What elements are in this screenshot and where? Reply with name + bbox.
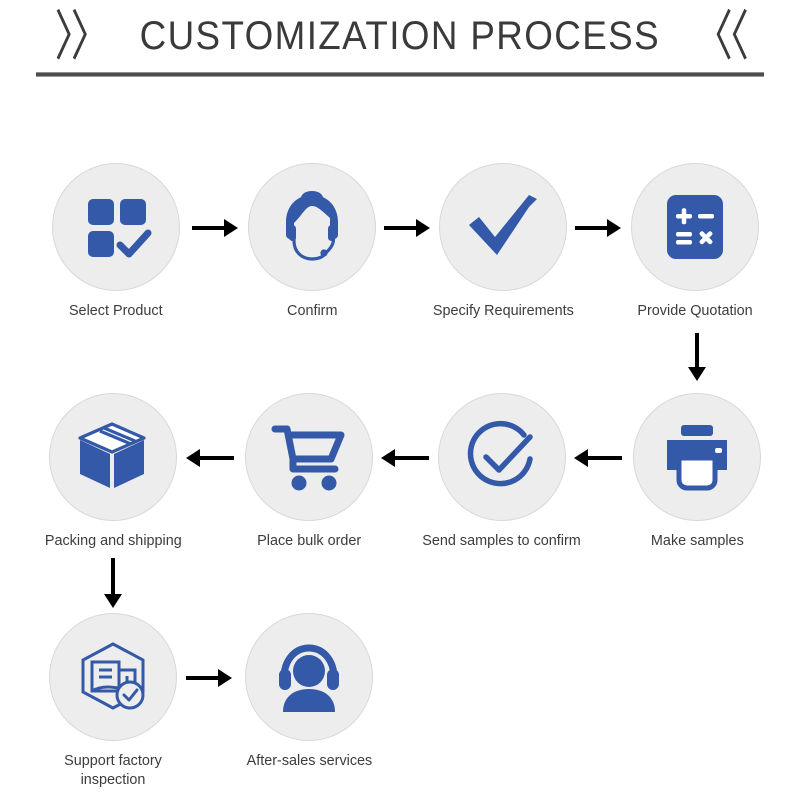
headset-operator-icon (274, 189, 350, 265)
step-make-samples[interactable]: Make samples (607, 393, 787, 550)
step-specify-requirements[interactable]: Specify Requirements (413, 163, 593, 320)
step-label: Support factory inspection (41, 751, 185, 789)
step-icon-circle (52, 163, 180, 291)
grid-check-icon (80, 191, 152, 263)
step-label: Make samples (651, 531, 744, 550)
step-icon-circle (631, 163, 759, 291)
chevron-left-decoration-icon: 〉〉 (55, 9, 107, 63)
step-icon-circle (245, 613, 373, 741)
page-header: 〉〉 CUSTOMIZATION PROCESS 〈〈 (0, 0, 800, 86)
step-icon-circle (248, 163, 376, 291)
checkmark-icon (463, 189, 543, 265)
shopping-cart-icon (271, 421, 347, 493)
step-label: Specify Requirements (433, 301, 574, 320)
printer-icon (659, 422, 735, 492)
step-confirm[interactable]: Confirm (222, 163, 402, 320)
customization-process-infographic: 〉〉 CUSTOMIZATION PROCESS 〈〈 Select Produ… (0, 0, 800, 800)
title-divider (36, 72, 764, 77)
step-icon-circle (49, 393, 177, 521)
calculator-icon (661, 191, 729, 263)
step-packing-and-shipping[interactable]: Packing and shipping (23, 393, 203, 550)
support-agent-icon (271, 642, 347, 712)
step-after-sales-services[interactable]: After-sales services (219, 613, 399, 770)
arrow-down-left-connector (103, 558, 123, 608)
step-send-samples-to-confirm[interactable]: Send samples to confirm (412, 393, 592, 550)
step-label: Place bulk order (257, 531, 361, 550)
step-label: Confirm (287, 301, 337, 320)
step-label: Provide Quotation (637, 301, 752, 320)
step-support-factory-inspection[interactable]: Support factory inspection (23, 613, 203, 789)
step-label: Select Product (69, 301, 163, 320)
step-icon-circle (633, 393, 761, 521)
step-place-bulk-order[interactable]: Place bulk order (219, 393, 399, 550)
step-icon-circle (245, 393, 373, 521)
chevron-right-decoration-icon: 〈〈 (693, 9, 745, 63)
step-label: Packing and shipping (45, 531, 182, 550)
step-provide-quotation[interactable]: Provide Quotation (605, 163, 785, 320)
step-icon-circle (49, 613, 177, 741)
package-box-icon (74, 420, 152, 494)
arrow-down-right-connector (687, 333, 707, 381)
page-title: CUSTOMIZATION PROCESS (140, 16, 660, 56)
title-row: 〉〉 CUSTOMIZATION PROCESS 〈〈 (0, 8, 800, 64)
step-icon-circle (438, 393, 566, 521)
step-icon-circle (439, 163, 567, 291)
factory-inspection-shield-icon (75, 639, 151, 715)
step-label: Send samples to confirm (423, 531, 581, 550)
step-select-product[interactable]: Select Product (26, 163, 206, 320)
step-label: After-sales services (246, 751, 372, 770)
circle-check-icon (464, 419, 540, 495)
